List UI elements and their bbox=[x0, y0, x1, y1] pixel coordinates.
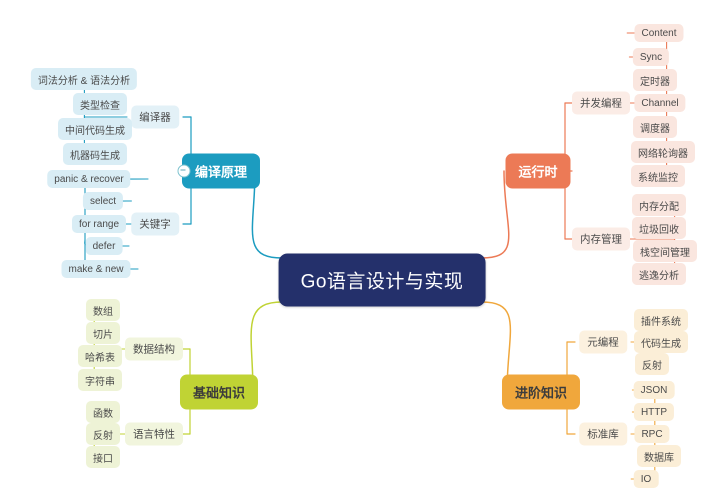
leaf-node-runtime-1-2[interactable]: 栈空间管理 bbox=[633, 240, 697, 262]
leaf-node-basics-0-2[interactable]: 哈希表 bbox=[78, 345, 122, 367]
leaf-node-compiler-1-2[interactable]: for range bbox=[72, 215, 126, 233]
group-node-advanced-1[interactable]: 标准库 bbox=[579, 423, 627, 446]
group-node-basics-0[interactable]: 数据结构 bbox=[125, 338, 183, 361]
leaf-node-advanced-0-2[interactable]: 反射 bbox=[635, 353, 669, 375]
group-node-advanced-0[interactable]: 元编程 bbox=[579, 331, 627, 354]
leaf-node-basics-0-1[interactable]: 切片 bbox=[86, 322, 120, 344]
group-node-runtime-0[interactable]: 并发编程 bbox=[572, 92, 630, 115]
branch-node-compiler[interactable]: 编译原理 bbox=[182, 154, 260, 189]
leaf-node-compiler-1-3[interactable]: defer bbox=[86, 237, 123, 255]
leaf-node-compiler-0-1[interactable]: 类型检查 bbox=[73, 93, 127, 115]
leaf-node-runtime-0-3[interactable]: Channel bbox=[634, 94, 685, 112]
mindmap-canvas: Go语言设计与实现编译原理编译器词法分析 & 语法分析类型检查中间代码生成机器码… bbox=[0, 0, 715, 500]
leaf-node-runtime-1-3[interactable]: 逃逸分析 bbox=[632, 263, 686, 285]
leaf-node-basics-1-1[interactable]: 反射 bbox=[86, 423, 120, 445]
leaf-node-runtime-1-1[interactable]: 垃圾回收 bbox=[632, 217, 686, 239]
leaf-node-runtime-0-5[interactable]: 网络轮询器 bbox=[631, 141, 695, 163]
leaf-node-runtime-0-4[interactable]: 调度器 bbox=[633, 116, 677, 138]
root-node[interactable]: Go语言设计与实现 bbox=[279, 254, 486, 307]
leaf-node-compiler-1-4[interactable]: make & new bbox=[61, 260, 130, 278]
leaf-node-basics-1-2[interactable]: 接口 bbox=[86, 446, 120, 468]
leaf-node-compiler-0-3[interactable]: 机器码生成 bbox=[63, 143, 127, 165]
leaf-node-compiler-1-0[interactable]: panic & recover bbox=[47, 170, 130, 188]
leaf-node-runtime-0-1[interactable]: Sync bbox=[633, 48, 669, 66]
leaf-node-advanced-1-2[interactable]: RPC bbox=[634, 425, 669, 443]
leaf-node-runtime-0-6[interactable]: 系统监控 bbox=[631, 165, 685, 187]
branch-node-advanced[interactable]: 进阶知识 bbox=[502, 375, 580, 410]
leaf-node-compiler-0-2[interactable]: 中间代码生成 bbox=[58, 118, 132, 140]
leaf-node-compiler-1-1[interactable]: select bbox=[83, 192, 123, 210]
group-node-basics-1[interactable]: 语言特性 bbox=[125, 423, 183, 446]
group-node-compiler-0[interactable]: 编译器 bbox=[131, 106, 179, 129]
leaf-node-compiler-0-0[interactable]: 词法分析 & 语法分析 bbox=[31, 68, 137, 90]
leaf-node-advanced-1-4[interactable]: IO bbox=[634, 470, 659, 488]
leaf-node-advanced-1-3[interactable]: 数据库 bbox=[637, 445, 681, 467]
group-node-runtime-1[interactable]: 内存管理 bbox=[572, 228, 630, 251]
collapse-toggle-compiler[interactable] bbox=[178, 165, 191, 178]
branch-node-runtime[interactable]: 运行时 bbox=[505, 154, 570, 189]
leaf-node-basics-1-0[interactable]: 函数 bbox=[86, 401, 120, 423]
leaf-node-advanced-1-1[interactable]: HTTP bbox=[634, 403, 674, 421]
leaf-node-runtime-1-0[interactable]: 内存分配 bbox=[632, 194, 686, 216]
leaf-node-advanced-1-0[interactable]: JSON bbox=[634, 381, 675, 399]
leaf-node-basics-0-3[interactable]: 字符串 bbox=[78, 369, 122, 391]
leaf-node-basics-0-0[interactable]: 数组 bbox=[86, 299, 120, 321]
leaf-node-advanced-0-1[interactable]: 代码生成 bbox=[634, 331, 688, 353]
leaf-node-advanced-0-0[interactable]: 插件系统 bbox=[634, 309, 688, 331]
group-node-compiler-1[interactable]: 关键字 bbox=[131, 213, 179, 236]
branch-node-basics[interactable]: 基础知识 bbox=[180, 375, 258, 410]
leaf-node-runtime-0-2[interactable]: 定时器 bbox=[633, 69, 677, 91]
leaf-node-runtime-0-0[interactable]: Content bbox=[634, 24, 683, 42]
